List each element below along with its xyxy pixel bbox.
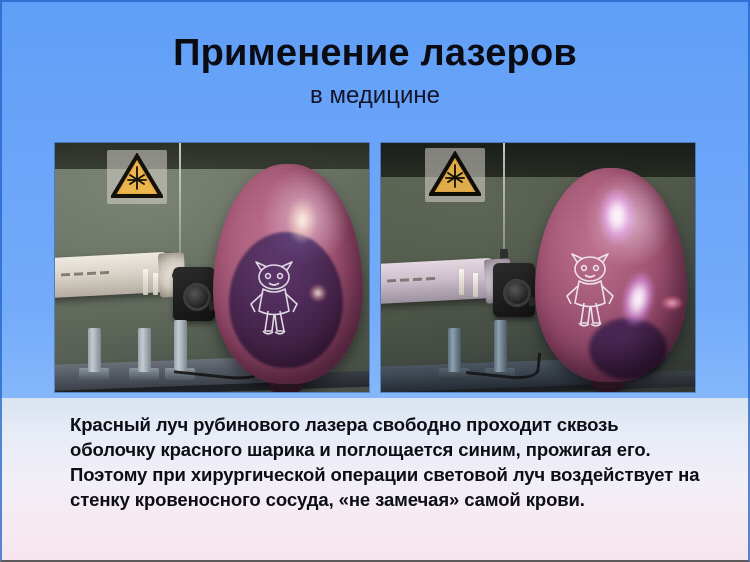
balloon-assembly	[213, 164, 363, 384]
laser-on-photo	[381, 143, 695, 392]
laser-warning-sign-icon	[429, 151, 481, 197]
optical-post	[88, 328, 101, 372]
photo-pair	[55, 143, 695, 392]
balloon-print-figure-icon	[243, 260, 305, 340]
laser-warning-sign-icon	[111, 153, 163, 199]
balloon-assembly	[535, 168, 687, 382]
alignment-pin	[143, 269, 148, 295]
hanging-wire	[503, 143, 505, 255]
hanging-wire	[179, 143, 181, 261]
optical-post	[448, 328, 461, 372]
laser-tube	[381, 258, 497, 304]
alignment-pin	[473, 273, 478, 297]
alignment-pin	[153, 273, 158, 295]
optical-post	[138, 328, 151, 372]
slide-header: Применение лазеров в медицине	[0, 0, 750, 140]
caption-panel: Красный луч рубинового лазера свободно п…	[0, 398, 750, 562]
alignment-pin	[459, 269, 464, 295]
laser-off-photo	[55, 143, 369, 392]
balloon-print-figure-icon	[559, 252, 621, 332]
optics-mount	[173, 267, 215, 321]
slide-subtitle: в медицине	[0, 74, 750, 110]
slide-title: Применение лазеров	[0, 0, 750, 74]
caption-text: Красный луч рубинового лазера свободно п…	[70, 412, 706, 512]
presentation-slide: Применение лазеров в медицине	[0, 0, 750, 562]
optics-mount	[493, 263, 535, 317]
